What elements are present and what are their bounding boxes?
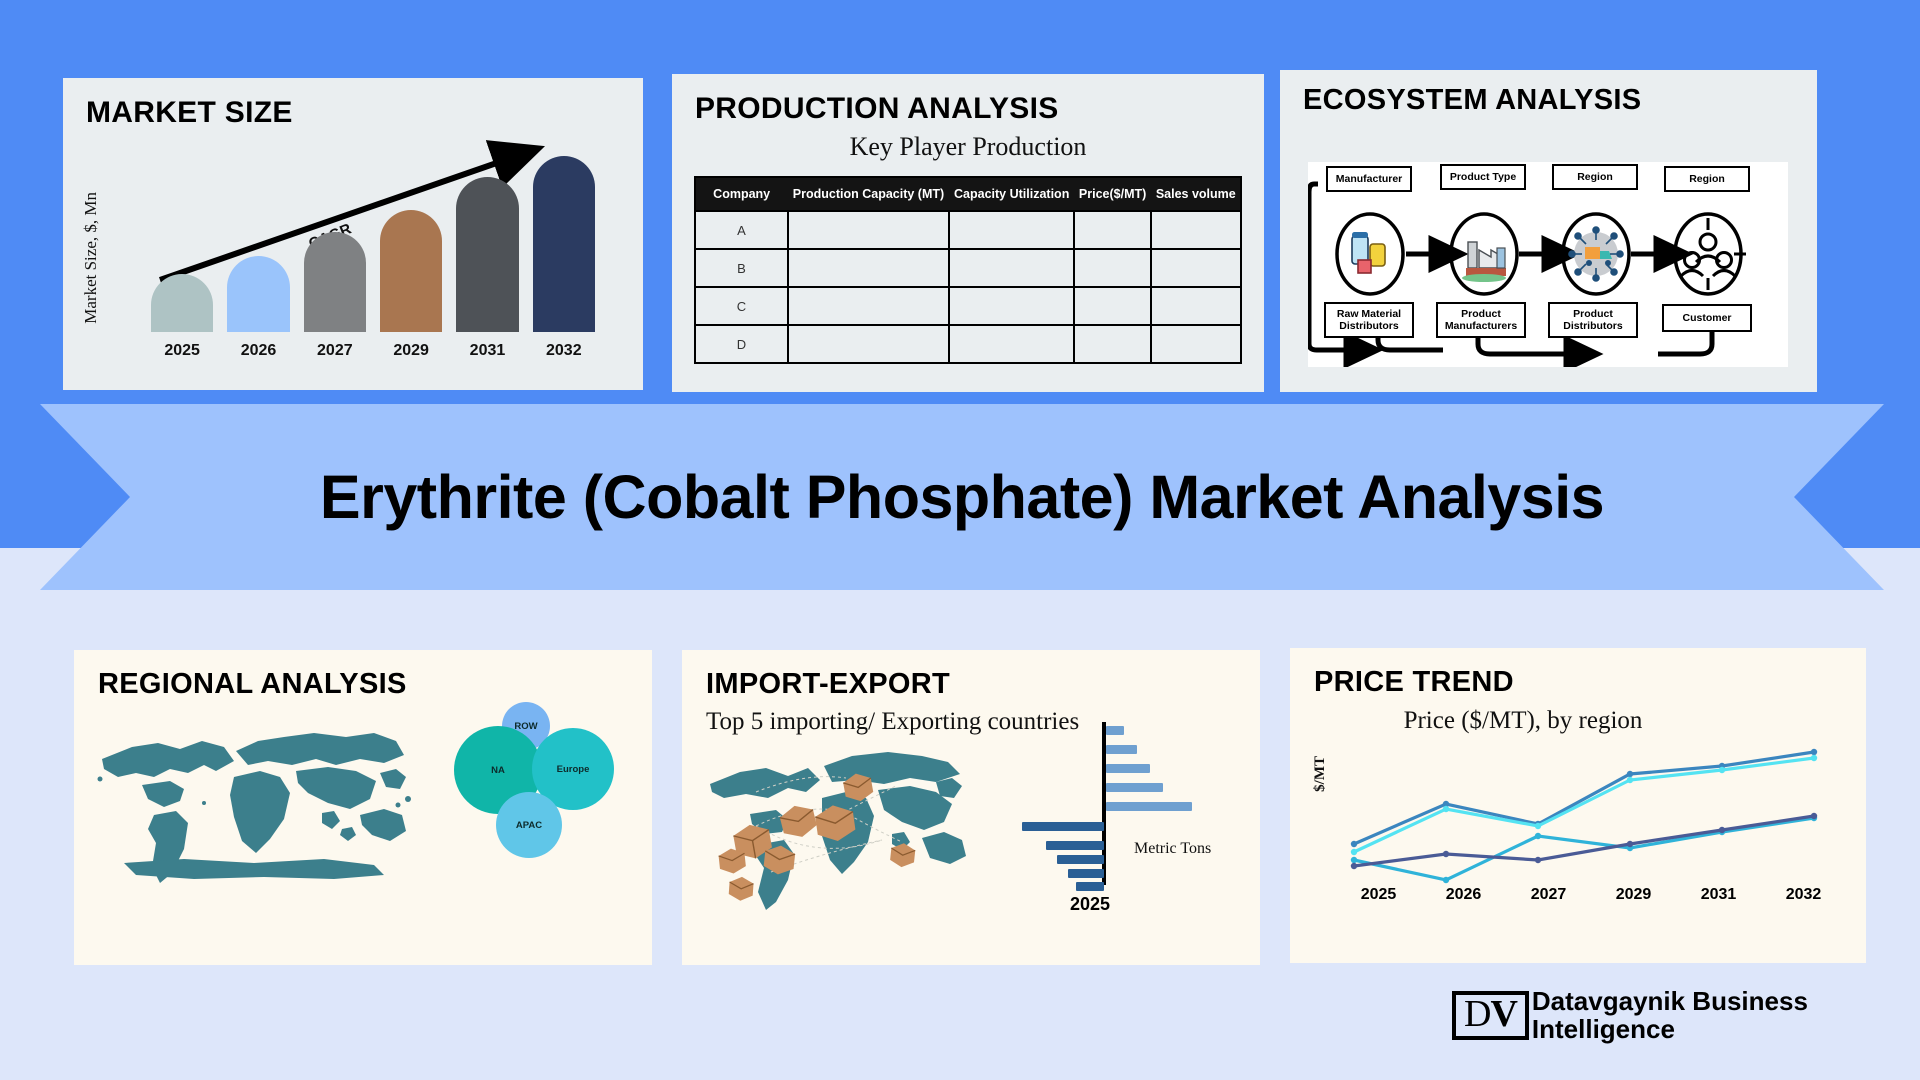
cell-company: C bbox=[695, 287, 788, 325]
panel-import-export: IMPORT-EXPORT Top 5 importing/ Exporting… bbox=[682, 650, 1260, 965]
bar-item bbox=[456, 177, 518, 332]
market-size-y-axis-label: Market Size, $, Mn bbox=[81, 192, 101, 324]
cell-utilization bbox=[949, 211, 1074, 249]
bar-item bbox=[151, 274, 213, 332]
distribution-network-icon bbox=[1569, 227, 1623, 281]
bar-item bbox=[304, 232, 366, 332]
cell-sales bbox=[1151, 287, 1241, 325]
metric-tons-label: Metric Tons bbox=[1134, 840, 1211, 858]
column-header-company: Company bbox=[695, 177, 788, 211]
x-tick-label: 2025 bbox=[1336, 886, 1421, 904]
panel-price-trend: PRICE TREND Price ($/MT), by region $/MT bbox=[1290, 648, 1866, 963]
export-bar bbox=[1046, 841, 1104, 850]
price-trend-heading: PRICE TREND bbox=[1290, 648, 1866, 699]
panel-market-size: MARKET SIZE Market Size, $, Mn CAGR 2025… bbox=[63, 78, 643, 390]
cell-price bbox=[1074, 287, 1151, 325]
trade-flow-map-icon bbox=[696, 732, 996, 917]
export-bar bbox=[1076, 882, 1104, 891]
world-map-icon bbox=[84, 707, 434, 907]
cell-sales bbox=[1151, 325, 1241, 363]
cell-price bbox=[1074, 211, 1151, 249]
panel-production-analysis: PRODUCTION ANALYSIS Key Player Productio… bbox=[672, 74, 1264, 392]
cell-company: D bbox=[695, 325, 788, 363]
eco-top-label-region-1: Region bbox=[1552, 164, 1638, 190]
bar-item bbox=[533, 156, 595, 332]
eco-top-label-region-2: Region bbox=[1664, 166, 1750, 192]
logo-wordmark: Datavgaynik Business Intelligence bbox=[1532, 988, 1808, 1043]
panel-ecosystem-analysis: ECOSYSTEM ANALYSIS bbox=[1280, 70, 1817, 392]
company-logo: DV Datavgaynik Business Intelligence bbox=[1452, 988, 1808, 1043]
cell-company: B bbox=[695, 249, 788, 287]
import-bar bbox=[1106, 745, 1137, 754]
x-tick-label: 2026 bbox=[227, 342, 289, 360]
logo-line-2: Intelligence bbox=[1532, 1016, 1808, 1044]
cell-price bbox=[1074, 249, 1151, 287]
table-row: B bbox=[695, 249, 1241, 287]
price-trend-y-axis-label: $/MT bbox=[1312, 756, 1329, 792]
production-analysis-heading: PRODUCTION ANALYSIS bbox=[672, 74, 1264, 126]
cell-utilization bbox=[949, 287, 1074, 325]
x-tick-label: 2029 bbox=[380, 342, 442, 360]
regional-analysis-heading: REGIONAL ANALYSIS bbox=[74, 650, 652, 701]
import-export-tornado-chart: Metric Tons 2025 bbox=[1012, 722, 1242, 927]
eco-bottom-label-raw-material-distributors: Raw Material Distributors bbox=[1324, 302, 1414, 338]
eco-bottom-label-product-distributors: Product Distributors bbox=[1548, 302, 1638, 338]
key-player-production-table: Company Production Capacity (MT) Capacit… bbox=[694, 176, 1242, 364]
page-title: Erythrite (Cobalt Phosphate) Market Anal… bbox=[320, 462, 1604, 532]
bar-item bbox=[380, 210, 442, 332]
series-points-region-2 bbox=[1351, 755, 1817, 855]
ecosystem-flow-diagram: Manufacturer Product Type Region Region … bbox=[1308, 162, 1788, 367]
column-header-price: Price($/MT) bbox=[1074, 177, 1151, 211]
cell-sales bbox=[1151, 249, 1241, 287]
column-header-capacity-utilization: Capacity Utilization bbox=[949, 177, 1074, 211]
cell-sales bbox=[1151, 211, 1241, 249]
x-tick-label: 2027 bbox=[304, 342, 366, 360]
export-bar bbox=[1022, 822, 1104, 831]
eco-bottom-label-customer: Customer bbox=[1662, 304, 1752, 332]
production-analysis-subtitle: Key Player Production bbox=[672, 132, 1264, 162]
cell-price bbox=[1074, 325, 1151, 363]
cell-company: A bbox=[695, 211, 788, 249]
price-trend-x-axis-labels: 2025 2026 2027 2029 2031 2032 bbox=[1336, 886, 1846, 904]
price-trend-line-chart bbox=[1336, 736, 1836, 886]
export-bar bbox=[1057, 855, 1104, 864]
cell-capacity bbox=[788, 249, 949, 287]
market-size-bars bbox=[151, 142, 595, 332]
market-size-chart: Market Size, $, Mn CAGR 2025 2026 2027 2… bbox=[63, 130, 643, 370]
eco-bottom-label-product-manufacturers: Product Manufacturers bbox=[1436, 302, 1526, 338]
panel-regional-analysis: REGIONAL ANALYSIS ROW NA Europe bbox=[74, 650, 652, 965]
bubble-apac: APAC bbox=[496, 792, 562, 858]
logo-mark-dv: DV bbox=[1452, 991, 1529, 1040]
regional-analysis-body: ROW NA Europe APAC bbox=[74, 701, 652, 926]
table-header-row: Company Production Capacity (MT) Capacit… bbox=[695, 177, 1241, 211]
cell-capacity bbox=[788, 211, 949, 249]
regional-bubble-chart: ROW NA Europe APAC bbox=[454, 696, 634, 886]
eco-top-label-product-type: Product Type bbox=[1440, 164, 1526, 190]
export-bar bbox=[1068, 869, 1104, 878]
import-bar bbox=[1106, 726, 1124, 735]
x-tick-label: 2031 bbox=[456, 342, 518, 360]
table-row: C bbox=[695, 287, 1241, 325]
logo-line-1: Datavgaynik Business bbox=[1532, 988, 1808, 1016]
x-tick-label: 2026 bbox=[1421, 886, 1506, 904]
cell-capacity bbox=[788, 287, 949, 325]
cell-utilization bbox=[949, 249, 1074, 287]
import-export-body: Metric Tons 2025 bbox=[682, 736, 1260, 936]
x-tick-label: 2032 bbox=[1761, 886, 1846, 904]
market-size-heading: MARKET SIZE bbox=[63, 78, 643, 130]
import-bar bbox=[1106, 802, 1192, 811]
series-line-region-2 bbox=[1354, 758, 1814, 852]
ecosystem-analysis-heading: ECOSYSTEM ANALYSIS bbox=[1280, 70, 1817, 117]
import-bar bbox=[1106, 783, 1163, 792]
x-tick-label: 2027 bbox=[1506, 886, 1591, 904]
market-size-x-axis-labels: 2025 2026 2027 2029 2031 2032 bbox=[151, 342, 595, 360]
x-tick-label: 2029 bbox=[1591, 886, 1676, 904]
import-bar bbox=[1106, 764, 1150, 773]
price-trend-body: $/MT bbox=[1290, 736, 1866, 921]
x-tick-label: 2031 bbox=[1676, 886, 1761, 904]
logo-letter-v: V bbox=[1490, 993, 1516, 1035]
x-tick-label: 2025 bbox=[151, 342, 213, 360]
import-export-heading: IMPORT-EXPORT bbox=[682, 650, 1260, 701]
logo-letter-d: D bbox=[1464, 993, 1490, 1035]
cell-capacity bbox=[788, 325, 949, 363]
price-trend-subtitle: Price ($/MT), by region bbox=[1290, 706, 1866, 736]
column-header-sales-volume: Sales volume bbox=[1151, 177, 1241, 211]
cell-utilization bbox=[949, 325, 1074, 363]
import-export-year-label: 2025 bbox=[1070, 894, 1110, 915]
table-row: A bbox=[695, 211, 1241, 249]
eco-top-label-manufacturer: Manufacturer bbox=[1326, 166, 1412, 192]
bar-item bbox=[227, 256, 289, 332]
x-tick-label: 2032 bbox=[533, 342, 595, 360]
title-ribbon: Erythrite (Cobalt Phosphate) Market Anal… bbox=[40, 404, 1884, 590]
column-header-production-capacity: Production Capacity (MT) bbox=[788, 177, 949, 211]
table-row: D bbox=[695, 325, 1241, 363]
